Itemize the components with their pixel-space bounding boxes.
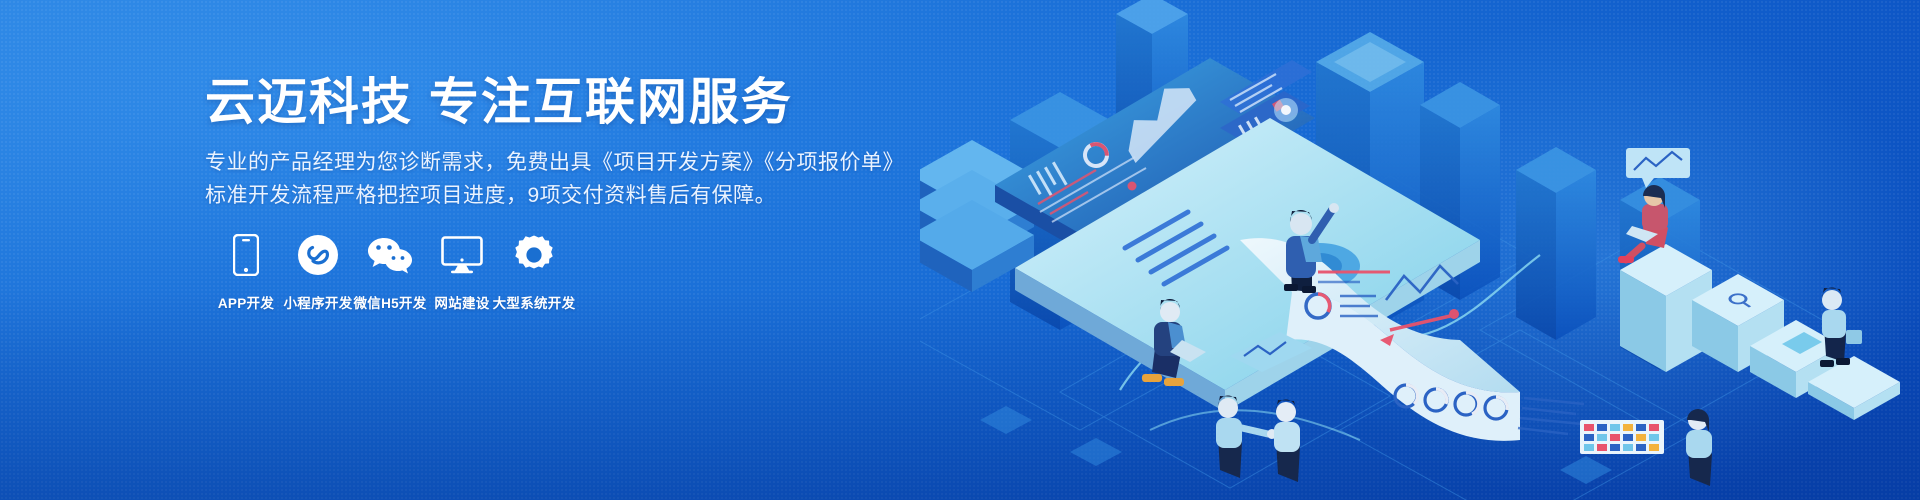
- wechat-icon: [367, 232, 413, 278]
- service-label: APP开发: [218, 292, 274, 312]
- service-item-website[interactable]: 网站建设: [426, 232, 498, 312]
- subtitle-line-1: 专业的产品经理为您诊断需求，免费出具《项目开发方案》《分项报价单》: [205, 147, 904, 179]
- character-briefcase: [1820, 287, 1862, 367]
- isometric-illustration: [920, 0, 1920, 500]
- service-item-miniprogram[interactable]: 小程序开发: [282, 232, 354, 312]
- service-item-app[interactable]: APP开发: [210, 232, 282, 312]
- character-pair-front: [1216, 395, 1300, 482]
- gear-icon: [513, 232, 555, 278]
- service-label: 大型系统开发: [493, 292, 576, 312]
- service-label: 小程序开发: [284, 292, 353, 312]
- mini-program-icon: [297, 232, 339, 278]
- monitor-icon: [441, 232, 483, 278]
- service-label: 微信H5开发: [353, 292, 426, 312]
- subtitle-line-2: 标准开发流程严格把控项目进度，9项交付资料售后有保障。: [205, 180, 776, 212]
- service-list: APP开发 小程序开发: [210, 232, 570, 312]
- hero-content: 云迈科技 专注互联网服务 专业的产品经理为您诊断需求，免费出具《项目开发方案》《…: [205, 0, 965, 500]
- hero-banner: 云迈科技 专注互联网服务 专业的产品经理为您诊断需求，免费出具《项目开发方案》《…: [0, 0, 1920, 500]
- character-woman-front: [1686, 409, 1712, 486]
- service-label: 网站建设: [434, 292, 489, 312]
- service-item-system[interactable]: 大型系统开发: [498, 232, 570, 312]
- page-title: 云迈科技 专注互联网服务: [205, 74, 793, 132]
- service-item-wechat[interactable]: 微信H5开发: [354, 232, 426, 312]
- mobile-phone-icon: [233, 232, 259, 278]
